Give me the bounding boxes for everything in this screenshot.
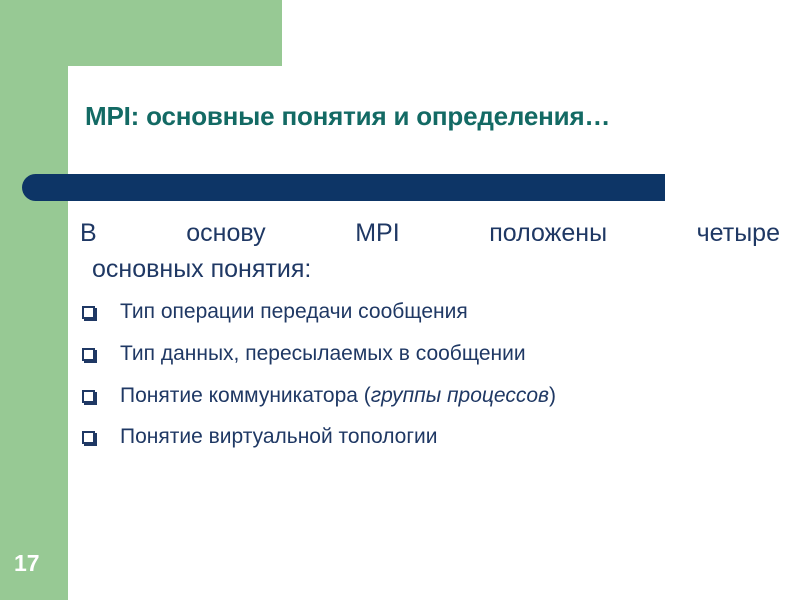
slide: MPI: основные понятия и определения… В о…	[0, 0, 800, 600]
hollow-square-bullet-icon	[82, 390, 95, 403]
list-item: Тип операции передачи сообщения	[80, 297, 780, 327]
list-item-label: Понятие виртуальной топологии	[120, 422, 780, 452]
list-item-label: Тип данных, пересылаемых в сообщении	[120, 339, 780, 369]
list-item: Тип данных, пересылаемых в сообщении	[80, 339, 780, 369]
slide-title: MPI: основные понятия и определения…	[85, 99, 685, 134]
lead-paragraph: В основу MPI положены четыре основных по…	[80, 216, 780, 287]
list-item-label-emphasis: группы процессов	[371, 384, 549, 407]
list-item-label-suffix: )	[549, 384, 556, 407]
slide-body: В основу MPI положены четыре основных по…	[80, 216, 780, 452]
list-item-label-prefix: Понятие коммуникатора (	[120, 384, 371, 407]
green-sidebar-strip	[0, 0, 68, 600]
navy-divider-bar	[22, 174, 665, 201]
list-item: Понятие виртуальной топологии	[80, 422, 780, 452]
hollow-square-bullet-icon	[82, 431, 95, 444]
concept-bullet-list: Тип операции передачи сообщения Тип данн…	[80, 297, 780, 452]
hollow-square-bullet-icon	[82, 348, 95, 361]
list-item-label: Тип операции передачи сообщения	[120, 297, 780, 327]
lead-paragraph-line-1: В основу MPI положены четыре	[80, 216, 780, 252]
hollow-square-bullet-icon	[82, 306, 95, 319]
list-item: Понятие коммуникатора (группы процессов)	[80, 381, 780, 411]
page-number: 17	[14, 552, 40, 575]
list-item-label: Понятие коммуникатора (группы процессов)	[120, 381, 780, 411]
lead-paragraph-line-2: основных понятия:	[92, 252, 780, 288]
